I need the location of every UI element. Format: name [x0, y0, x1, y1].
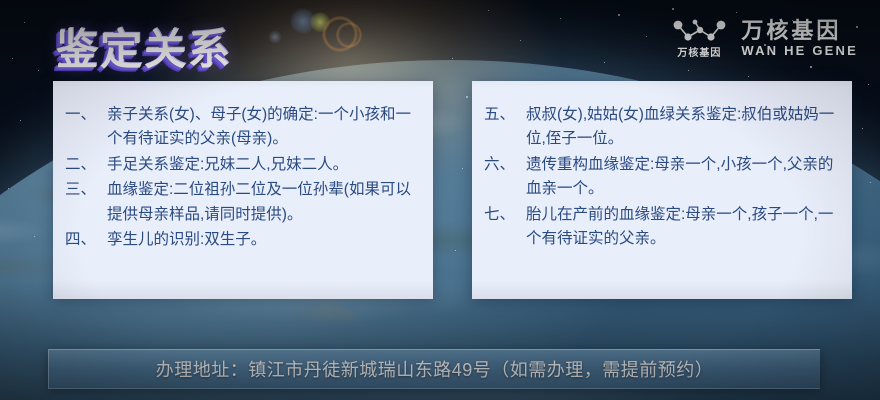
list-item: 三、 血缘鉴定:二位祖孙二位及一位孙辈(如果可以提供母亲样品,请同时提供)。 — [65, 178, 417, 227]
list-item-index: 四、 — [65, 228, 107, 252]
list-item: 四、 孪生儿的识别:双生子。 — [65, 228, 417, 252]
list-item-index: 一、 — [65, 103, 107, 127]
list-item-index: 六、 — [484, 153, 526, 177]
list-item: 一、 亲子关系(女)、母子(女)的确定:一个小孩和一个有待证实的父亲(母亲)。 — [65, 103, 417, 152]
panel-left: 一、 亲子关系(女)、母子(女)的确定:一个小孩和一个有待证实的父亲(母亲)。 … — [53, 81, 433, 299]
list-item-index: 五、 — [484, 103, 526, 127]
page-title: 鉴定关系 — [56, 16, 232, 77]
relationship-list-left: 一、 亲子关系(女)、母子(女)的确定:一个小孩和一个有待证实的父亲(母亲)。 … — [65, 103, 417, 253]
relationship-list-right: 五、 叔叔(女),姑姑(女)血绿关系鉴定:叔伯或姑妈一位,侄子一位。 六、 遗传… — [484, 103, 836, 252]
list-item-index: 二、 — [65, 153, 107, 177]
brand-name-en: WAN HE GENE — [741, 44, 858, 58]
panel-right: 五、 叔叔(女),姑姑(女)血绿关系鉴定:叔伯或姑妈一位,侄子一位。 六、 遗传… — [472, 81, 852, 299]
list-item-text: 亲子关系(女)、母子(女)的确定:一个小孩和一个有待证实的父亲(母亲)。 — [107, 103, 417, 152]
list-item-text: 手足关系鉴定:兄妹二人,兄妹二人。 — [107, 153, 417, 177]
brand-mark-label: 万核基因 — [677, 49, 721, 59]
brand-logo: 万核基因 万核基因 WAN HE GENE — [671, 18, 858, 59]
list-item-text: 遗传重构血缘鉴定:母亲一个,小孩一个,父亲的血亲一个。 — [526, 153, 836, 202]
brand-name-cn: 万核基因 — [741, 19, 858, 42]
content-panels: 一、 亲子关系(女)、母子(女)的确定:一个小孩和一个有待证实的父亲(母亲)。 … — [53, 81, 852, 299]
list-item-index: 七、 — [484, 203, 526, 227]
list-item-index: 三、 — [65, 178, 107, 202]
list-item: 二、 手足关系鉴定:兄妹二人,兄妹二人。 — [65, 153, 417, 177]
list-item-text: 叔叔(女),姑姑(女)血绿关系鉴定:叔伯或姑妈一位,侄子一位。 — [526, 103, 836, 152]
list-item-text: 血缘鉴定:二位祖孙二位及一位孙辈(如果可以提供母亲样品,请同时提供)。 — [107, 178, 417, 227]
list-item: 六、 遗传重构血缘鉴定:母亲一个,小孩一个,父亲的血亲一个。 — [484, 153, 836, 202]
address-bar: 办理地址：镇江市丹徒新城瑞山东路49号（如需办理，需提前预约） — [48, 349, 820, 389]
list-item: 七、 胎儿在产前的血缘鉴定:母亲一个,孩子一个,一个有待证实的父亲。 — [484, 203, 836, 252]
address-text: 办理地址：镇江市丹徒新城瑞山东路49号（如需办理，需提前预约） — [156, 356, 714, 382]
list-item-text: 孪生儿的识别:双生子。 — [107, 228, 417, 252]
brand-names: 万核基因 WAN HE GENE — [741, 19, 858, 58]
molecule-dna-icon — [671, 18, 727, 46]
list-item-text: 胎儿在产前的血缘鉴定:母亲一个,孩子一个,一个有待证实的父亲。 — [526, 203, 836, 252]
list-item: 五、 叔叔(女),姑姑(女)血绿关系鉴定:叔伯或姑妈一位,侄子一位。 — [484, 103, 836, 152]
brand-mark: 万核基因 — [671, 18, 727, 59]
promo-banner: 鉴定关系 — [0, 0, 880, 400]
